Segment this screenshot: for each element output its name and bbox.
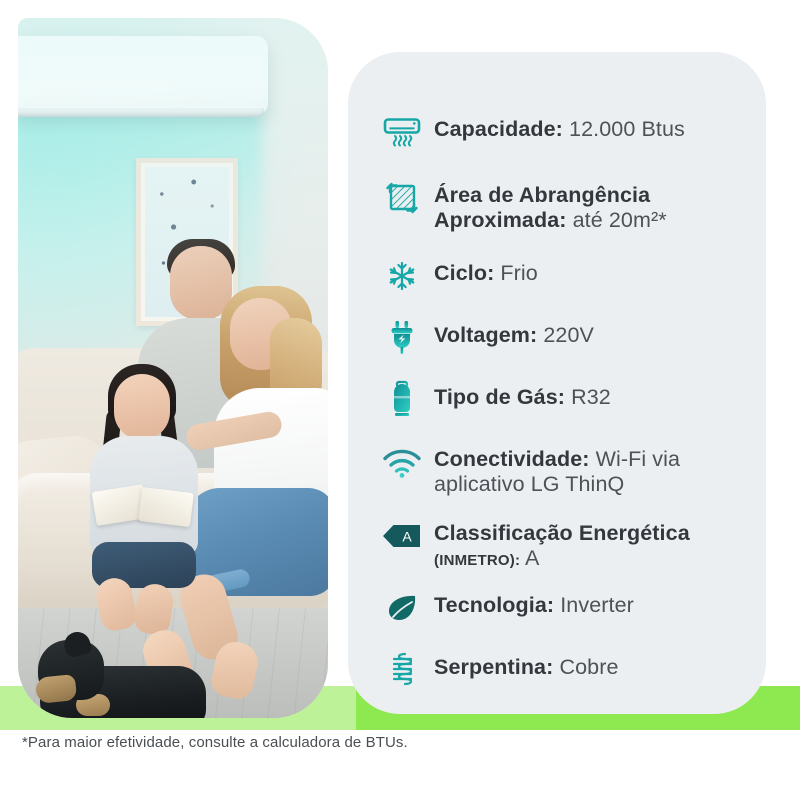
power-plug-icon xyxy=(380,316,424,360)
spec-text-voltagem: Voltagem: 220V xyxy=(434,316,594,348)
energy-label-letter: A xyxy=(402,529,412,545)
spec-row-ciclo: Ciclo: Frio xyxy=(380,254,752,298)
wifi-icon xyxy=(380,440,424,484)
spec-value-tecnologia: Inverter xyxy=(554,593,634,617)
specifications-list: Capacidade: 12.000 Btus xyxy=(348,52,766,714)
spec-row-area: Área de Abrangência Aproximada: até 20m²… xyxy=(380,176,752,233)
spec-value-ciclo: Frio xyxy=(494,261,538,285)
spec-label-inmetro: (INMETRO): xyxy=(434,552,520,569)
spec-value-serpentina: Cobre xyxy=(553,655,618,679)
spec-row-tecnologia: Tecnologia: Inverter xyxy=(380,586,752,630)
spec-text-area: Área de Abrangência Aproximada: até 20m²… xyxy=(434,176,667,233)
air-conditioner-icon xyxy=(380,110,424,154)
area-coverage-icon xyxy=(380,176,424,220)
spec-value-area: até 20m²* xyxy=(567,208,667,232)
spec-value-conectividade-line2: aplicativo LG ThinQ xyxy=(434,472,624,496)
spec-label-conectividade: Conectividade: xyxy=(434,447,590,471)
specifications-card: Capacidade: 12.000 Btus xyxy=(348,52,766,714)
spec-value-capacidade: 12.000 Btus xyxy=(563,117,685,141)
spec-row-voltagem: Voltagem: 220V xyxy=(380,316,752,360)
snowflake-icon xyxy=(380,254,424,298)
spec-text-tecnologia: Tecnologia: Inverter xyxy=(434,586,634,618)
spec-label-gas: Tipo de Gás: xyxy=(434,385,565,409)
spec-text-conectividade: Conectividade: Wi-Fi via aplicativo LG T… xyxy=(434,440,680,497)
spec-text-gas: Tipo de Gás: R32 xyxy=(434,378,611,410)
spec-label-tecnologia: Tecnologia: xyxy=(434,593,554,617)
photo-cool-tint xyxy=(18,18,328,718)
spec-text-serpentina: Serpentina: Cobre xyxy=(434,648,619,680)
spec-value-energia: A xyxy=(520,546,539,570)
footnote-text: *Para maior efetividade, consulte a calc… xyxy=(22,734,542,751)
spec-label-capacidade: Capacidade: xyxy=(434,117,563,141)
spec-text-ciclo: Ciclo: Frio xyxy=(434,254,538,286)
spec-row-serpentina: Serpentina: Cobre xyxy=(380,648,752,692)
infographic-root: Capacidade: 12.000 Btus xyxy=(0,0,800,800)
spec-row-capacidade: Capacidade: 12.000 Btus xyxy=(380,110,752,154)
lifestyle-photo xyxy=(18,18,328,718)
leaf-icon xyxy=(380,586,424,630)
spec-label-ciclo: Ciclo: xyxy=(434,261,494,285)
spec-row-energia: A Classificação Energética (INMETRO): A xyxy=(380,514,752,571)
spec-label-energia: Classificação Energética xyxy=(434,521,690,545)
gas-cylinder-icon xyxy=(380,378,424,422)
coil-icon xyxy=(380,648,424,692)
spec-row-conectividade: Conectividade: Wi-Fi via aplicativo LG T… xyxy=(380,440,752,497)
spec-label-voltagem: Voltagem: xyxy=(434,323,537,347)
spec-row-gas: Tipo de Gás: R32 xyxy=(380,378,752,422)
spec-value-gas: R32 xyxy=(565,385,611,409)
spec-text-capacidade: Capacidade: 12.000 Btus xyxy=(434,110,685,142)
spec-value-voltagem: 220V xyxy=(537,323,594,347)
spec-value-conectividade: Wi-Fi via xyxy=(590,447,681,471)
energy-label-icon: A xyxy=(380,514,424,558)
spec-text-energia: Classificação Energética (INMETRO): A xyxy=(434,514,690,571)
spec-label-area: Área de Abrangência xyxy=(434,183,650,207)
spec-label-serpentina: Serpentina: xyxy=(434,655,553,679)
spec-label-area-line2: Aproximada: xyxy=(434,208,567,232)
